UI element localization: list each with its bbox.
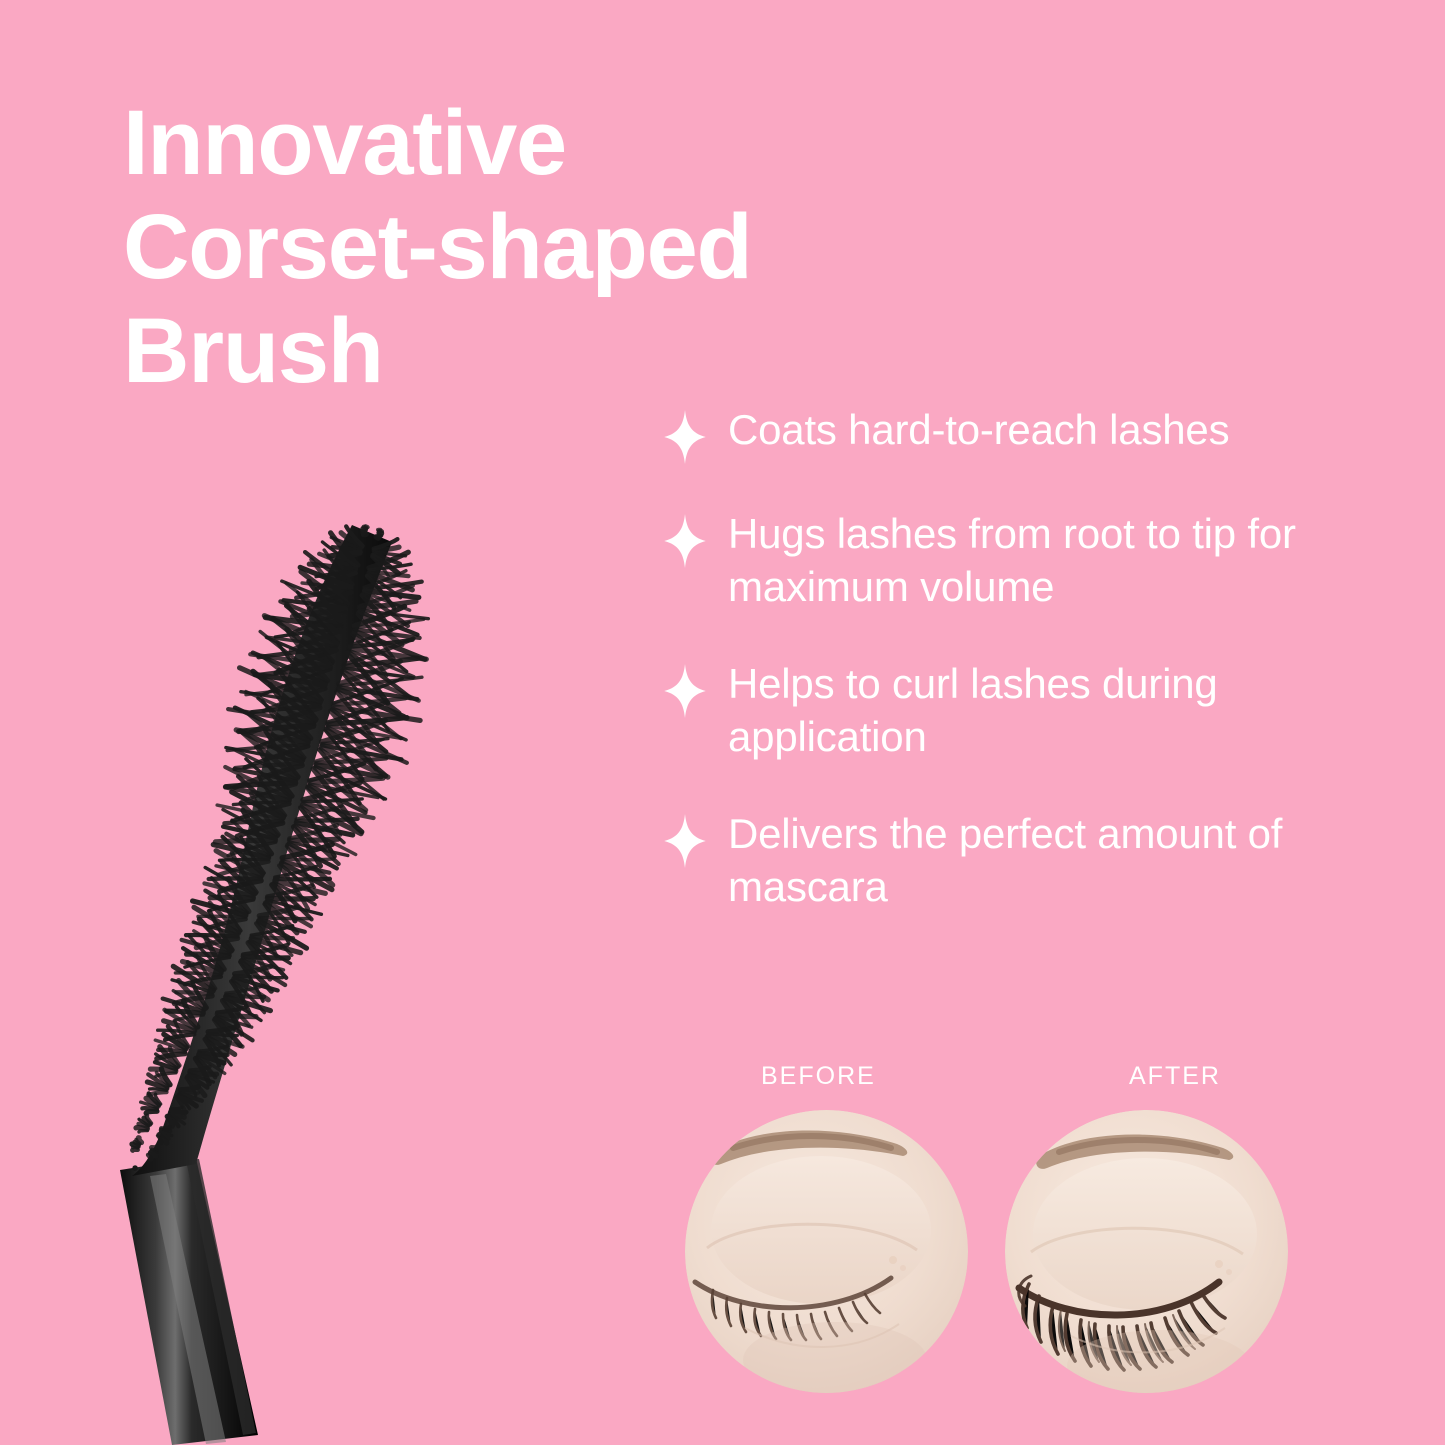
sparkle-icon (664, 814, 706, 868)
list-item: Hugs lashes from root to tip for maximum… (664, 508, 1312, 614)
sparkle-icon (664, 514, 706, 568)
sparkle-icon (664, 664, 706, 718)
after-photo (1005, 1110, 1288, 1393)
sparkle-icon (664, 410, 706, 464)
before-photo (685, 1110, 968, 1393)
before-label: BEFORE (761, 1062, 876, 1091)
feature-list: Coats hard-to-reach lashes Hugs lashes f… (664, 404, 1312, 913)
product-feature-graphic: Innovative Corset-shaped Brush Coats har… (0, 0, 1445, 1445)
list-item: Helps to curl lashes during application (664, 658, 1312, 764)
page-title: Innovative Corset-shaped Brush (123, 92, 943, 404)
feature-label: Helps to curl lashes during application (728, 658, 1312, 764)
feature-label: Hugs lashes from root to tip for maximum… (728, 508, 1312, 614)
list-item: Coats hard-to-reach lashes (664, 404, 1312, 464)
feature-label: Delivers the perfect amount of mascara (728, 808, 1312, 914)
mascara-wand-image (0, 470, 560, 1445)
after-label: AFTER (1129, 1062, 1221, 1091)
list-item: Delivers the perfect amount of mascara (664, 808, 1312, 914)
feature-label: Coats hard-to-reach lashes (728, 404, 1229, 457)
